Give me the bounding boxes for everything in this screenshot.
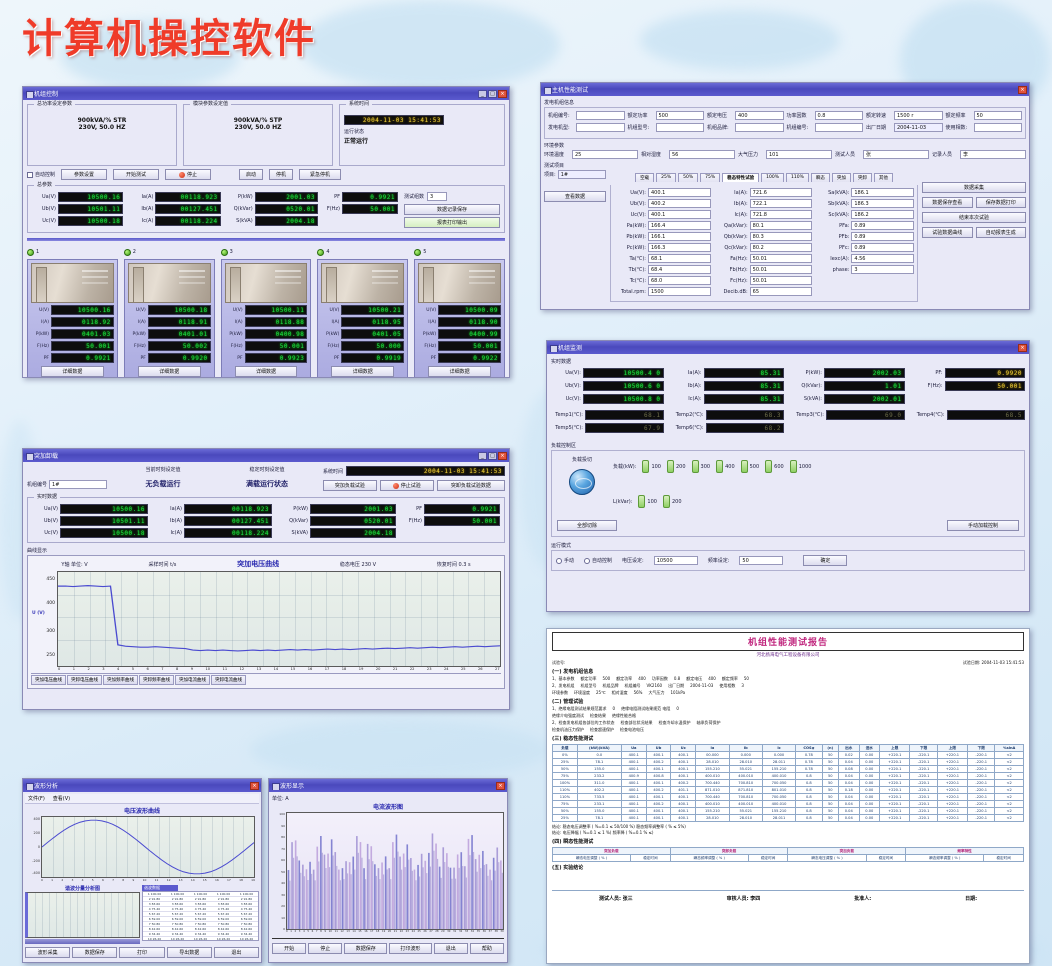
data-value[interactable]: 65 [750,287,813,296]
table-cell: 10 26.20 [166,937,189,941]
load-switch[interactable]: 200 [663,495,682,508]
data-value[interactable]: 80.1 [750,221,813,230]
mode-auto-radio[interactable]: 自动控制 [584,557,612,564]
monitor-label: Temp5(℃): [551,425,583,431]
tab-shed-voltage[interactable]: 突卸电压曲线 [67,675,102,685]
field-label: 机组编号: [787,124,813,131]
clear-all-load-button[interactable]: 全部切除 [557,520,617,531]
field-label: 功率因数 [787,112,813,119]
tab-shed-freq[interactable]: 突卸频率曲线 [139,675,174,685]
table-cell: 5 67.20 [189,912,212,916]
test-curve-button[interactable]: 试验数据曲线 [922,227,973,238]
acquire-data-button[interactable]: 数据采集 [922,182,1026,193]
signature-field: 批准人: [854,895,871,902]
data-label: Ub(V): [614,201,646,207]
load-switch[interactable]: 500 [741,460,760,473]
voltage-set-input[interactable]: 10500 [654,556,698,565]
field-input[interactable] [735,123,784,132]
mode-manual-radio[interactable]: 手动 [556,557,574,564]
table-cell: 871.810 [729,787,762,794]
print-report-button[interactable]: 报表打印输出 [404,217,500,228]
table-cell: <2 [995,801,1024,808]
table-cell: 400.1 [646,780,671,787]
time-display: 2004-11-03 15:41:53 [346,466,505,476]
load-switch[interactable]: 100 [638,495,657,508]
device-row-value: 0400.98 [245,329,308,339]
close-icon[interactable]: × [1018,86,1027,94]
data-value[interactable]: 400.2 [648,199,711,208]
table-cell: 400.1 [671,794,696,801]
field-input[interactable]: 500 [656,111,705,120]
data-value[interactable]: 0.89 [851,243,914,252]
readout-value: 0.9921 [424,504,500,514]
data-value[interactable]: 166.3 [648,243,711,252]
table-cell: 155.210 [696,766,729,773]
tab-3[interactable]: 75% [700,173,720,182]
exit-button[interactable]: 退出 [214,947,259,958]
capture-button[interactable]: 波形采集 [25,947,70,958]
y-tick: 0 [283,927,285,931]
table-cell: 稳定时间 [984,855,1024,862]
device-row-label: I(A) [225,320,243,325]
maximize-icon[interactable]: □ [488,452,497,460]
data-value[interactable]: 186.1 [851,188,914,197]
readout-value: 10501.11 [60,516,148,526]
close-icon[interactable]: × [498,90,507,98]
readout-value: 00127.451 [184,516,272,526]
device-row-label: P(kW) [31,332,49,337]
field-input[interactable]: 0.8 [815,111,864,120]
switch-label: 600 [774,464,784,470]
table-cell: <2 [995,815,1024,822]
print-button[interactable]: 打印 [119,947,164,958]
y-tick: 450 [46,577,55,582]
current-setpoint-label: 当前时刻设定值 [115,466,211,473]
startup-button[interactable]: 启动 [239,169,263,180]
device-detail-button[interactable]: 详细数据 [428,366,491,377]
field-select[interactable]: 2004-11-03 [894,123,943,132]
apply-load-button[interactable]: 突加负载试验 [323,480,377,491]
load-switch[interactable]: 400 [716,460,735,473]
readout-value: 00118.923 [184,504,272,514]
table-cell: 400.2 [646,801,671,808]
data-value[interactable]: 80.2 [750,243,813,252]
test-count-label: 测试组数 [404,193,424,200]
stop-test-button[interactable]: 停止试验 [380,480,434,491]
data-value[interactable]: 0.89 [851,232,914,241]
field-label: 额定转速 [866,112,892,119]
data-value[interactable]: 186.2 [851,210,914,219]
print-saved-button[interactable]: 保存数据打印 [976,197,1027,208]
tab-9[interactable]: 突卸 [853,173,872,182]
device-row-label: PF [321,356,339,361]
device-row-value: 0118.95 [341,317,404,327]
table-cell: -220.1 [910,787,937,794]
data-row: Fb(Hz):50.01 [716,265,813,274]
table-cell: -220.1 [968,766,995,773]
table-cell: -220.1 [910,759,937,766]
data-value[interactable]: 166.4 [648,221,711,230]
readout-row: Ub(V) 10501.11 [32,204,123,214]
field-input[interactable]: 101 [766,150,832,159]
table-cell: +220.1 [880,766,910,773]
maximize-icon[interactable]: □ [488,90,497,98]
menu-file[interactable]: 文件(F) [28,795,45,802]
x-tick: 35 [477,930,480,933]
x-tick: 36 [483,930,486,933]
switch-toggle-icon[interactable] [667,460,674,473]
save-data-button[interactable]: 数据记录保存 [404,204,500,215]
titlebar-title: 主机性能测试 [543,85,1018,94]
monitor-value: 2002.01 [824,394,905,404]
table-cell: 4 75.40 [143,907,166,911]
x-tick: 0 [286,930,288,933]
table-cell: 871.010 [696,787,729,794]
item-select[interactable]: 1# [558,170,606,179]
tab-6[interactable]: 110% [786,173,809,182]
data-value[interactable]: 400.1 [648,188,711,197]
shutdown-button[interactable]: 停机 [269,169,293,180]
group-legend: 总参数 [34,181,55,188]
report-cell: 额定功率 [581,676,597,682]
table-row: 25%78.1400.1400.1400.128.01028.01028.011… [553,815,1024,822]
data-value[interactable]: 68.1 [648,254,711,263]
data-value[interactable]: 186.3 [851,199,914,208]
data-label: Pc(kW): [614,245,646,251]
module-params-line1: 900kVA/% STP [188,117,328,124]
field-input[interactable] [656,123,705,132]
monitor-value: 67.9 [585,423,664,433]
table-cell: 25% [553,759,578,766]
readout-label: Q(kVar) [280,518,308,524]
table-cell: 400.010 [729,773,762,780]
table-cell: 4 75.40 [189,907,212,911]
tab-shed-current[interactable]: 突卸电流曲线 [211,675,246,685]
data-value[interactable]: 50.01 [750,265,813,274]
monitor-label: Temp4(℃): [913,412,945,418]
table-cell: +220.1 [880,752,910,759]
device-row-label: I(A) [418,320,436,325]
monitor-value: 68.1 [585,410,664,420]
tab-7[interactable]: 瞬态 [811,173,830,182]
field-label: 机组型号: [628,124,654,131]
field-label: 出厂日期 [866,124,892,131]
tab-apply-current[interactable]: 突加电流曲线 [175,675,210,685]
report-cell: 额定功率 [616,676,632,682]
readout-label: Uc(V) [32,530,58,536]
data-value[interactable]: 80.3 [750,232,813,241]
column-header: 下限 [968,745,995,752]
close-icon[interactable]: × [250,782,259,790]
status-led-icon [124,249,131,256]
switch-toggle-icon[interactable] [716,460,723,473]
tab-apply-voltage[interactable]: 突加电压曲线 [31,675,66,685]
data-value[interactable]: 1500 [648,287,711,296]
device-detail-button[interactable]: 详细数据 [41,366,104,377]
load-switch[interactable]: 1000 [790,460,812,473]
monitor-label: Ub(V): [551,383,581,389]
device-detail-button[interactable]: 详细数据 [235,366,298,377]
table-cell: 7 50.80 [235,922,258,926]
tab-10[interactable]: 其他 [874,173,893,182]
table-cell: +220.1 [880,780,910,787]
device-row-label: P(kW) [321,332,339,337]
freq-set-label: 频率设定: [708,557,730,564]
minimize-icon[interactable]: _ [478,90,487,98]
device-panel: 3 U(V)10500.11 I(A)0118.88 P(kW)0400.98 … [221,247,312,377]
field-input[interactable]: 张 [863,150,929,159]
tab-8[interactable]: 突加 [832,173,851,182]
table-cell: 0.04 [838,794,859,801]
table-cell: 700.050 [762,780,795,787]
stop-button[interactable]: 停止 [308,943,342,954]
manual-load-button[interactable]: 手动加载控制 [947,520,1019,531]
data-row: Tc(℃):68.0 [614,276,711,285]
temp-col: Temp1(℃):68.1Temp5(℃):67.9 [551,410,664,436]
column-header: (n) [822,745,838,752]
table-cell: 3 83.60 [235,902,258,906]
data-value[interactable]: 0.89 [851,221,914,230]
table-cell: -220.1 [910,794,937,801]
field-input[interactable] [576,123,625,132]
shed-load-data-button[interactable]: 突卸负载试验数据 [437,480,505,491]
table-cell: 400.1 [671,808,696,815]
table-cell: 50 [822,752,838,759]
table-cell: 400.010 [696,801,729,808]
monitor-label: Temp3(℃): [792,412,824,418]
tab-4[interactable]: 稳态特性试验 [722,173,759,182]
data-row: Fc(Hz):50.01 [716,276,813,285]
data-value[interactable]: 721.6 [750,188,813,197]
field-input[interactable]: 50 [974,111,1023,120]
harmonic-scrollbar[interactable] [25,939,140,944]
table-cell: 9 34.40 [166,932,189,936]
table-cell: 400.1 [621,752,646,759]
field-input[interactable]: 1500 r [894,111,943,120]
chart-title: 突加电压曲线 [237,559,279,569]
table-cell: 400.1 [621,787,646,794]
data-value[interactable]: 4.56 [851,254,914,263]
device-row-value: 50.001 [438,341,501,351]
field-input[interactable]: 56 [669,150,735,159]
data-row: Pa(kW):166.4 [614,221,711,230]
group-chart-readouts: 实时数据 Ua(V)10500.16 Ub(V)10501.11 Uc(V)10… [27,497,505,543]
field-input[interactable]: 25 [572,150,638,159]
monitor-row: Temp5(℃):67.9 [551,423,664,433]
titlebar-osc[interactable]: 波形显示 × [269,779,507,792]
load-switch[interactable]: 600 [765,460,784,473]
report-cell: 额定频率 [722,676,738,682]
monitor-row: P(kW):2002.03 [792,368,905,378]
data-label: Pb(kW): [614,234,646,240]
data-label: PFa: [817,223,849,229]
field-input[interactable] [576,111,625,120]
field-input[interactable] [815,123,864,132]
titlebar-title: 机组控制 [25,89,478,98]
table-cell: 155.210 [696,808,729,815]
data-value[interactable]: 68.0 [648,276,711,285]
view-saved-button[interactable]: 数据保存查看 [922,197,973,208]
load-switch[interactable]: 200 [667,460,686,473]
table-cell: <2 [995,766,1024,773]
start-test-button[interactable]: 开始测试 [113,169,159,180]
report-cell: 机组型号 [581,683,597,689]
table-cell: 400.9 [621,773,646,780]
titlebar-chart[interactable]: 突加卸载 _ □ × [23,449,509,462]
channel-input[interactable]: 1# [49,480,107,489]
minimize-icon[interactable]: _ [478,452,487,460]
readout-row: Ic(A) 00118.224 [129,216,220,226]
data-value[interactable]: 3 [851,265,914,274]
x-tick: 12 [167,878,171,882]
stop-button[interactable]: 停止 [165,169,211,180]
data-row: Decib.dB:65 [716,287,813,296]
device-list: 1 U(V)10500.16 I(A)0118.92 P(kW)0401.03 … [27,247,505,377]
monitor-label: Ib(A): [672,383,702,389]
monitor-row: Uc(V):10500.8 0 [551,394,664,404]
table-cell: 50 [822,766,838,773]
tab-1[interactable]: 25% [656,173,676,182]
param-setting-button[interactable]: 参数设置 [61,169,107,180]
help-button[interactable]: 帮助 [470,943,504,954]
tab-0[interactable]: 空载 [635,173,654,182]
titlebar-monitor[interactable]: 机组监测 × [547,341,1029,354]
start-button[interactable]: 开始 [272,943,306,954]
table-cell: 稳定时间 [631,855,671,862]
save-button[interactable]: 数据保存 [344,943,387,954]
field-input[interactable]: 400 [735,111,784,120]
monitor-label: PF: [913,370,943,376]
switch-toggle-icon[interactable] [642,460,649,473]
x-tick: 14 [352,930,355,933]
data-value[interactable]: 68.4 [648,265,711,274]
auto-report-button[interactable]: 自动报表生成 [976,227,1027,238]
device-row-label: F(Hz) [128,344,146,349]
table-cell: +220.1 [937,808,967,815]
readout-label: Ia(A) [129,194,153,200]
tab-apply-freq[interactable]: 突加频率曲线 [103,675,138,685]
data-value[interactable]: 166.1 [648,232,711,241]
data-value[interactable]: 50.01 [750,276,813,285]
table-row: 50%155.0400.1400.1400.1155.21055.021155.… [553,808,1024,815]
field-input[interactable]: 李 [960,150,1026,159]
print-button[interactable]: 打印波形 [389,943,432,954]
auto-control-checkbox[interactable]: 自动控制 [27,171,55,178]
table-cell: 0.8 [796,801,822,808]
table-cell: -220.1 [910,801,937,808]
switch-toggle-icon[interactable] [765,460,772,473]
field-label: 测试人员 [835,151,861,158]
emergency-stop-button[interactable]: 紧急停机 [299,169,341,180]
switch-toggle-icon[interactable] [741,460,748,473]
table-cell: -220.1 [968,752,995,759]
table-cell: 8 42.60 [166,927,189,931]
device-detail-button[interactable]: 详细数据 [331,366,394,377]
tab-2[interactable]: 50% [678,173,698,182]
readout-value: 2004.18 [255,216,318,226]
table-cell: +220.1 [937,787,967,794]
titlebar-main[interactable]: 机组控制 _ □ × [23,87,509,100]
titlebar-sine[interactable]: 波形分析 × [23,779,261,792]
switch-toggle-icon[interactable] [663,495,670,508]
view-data-button[interactable]: 查看数据 [544,191,606,202]
table-cell: 28.011 [762,815,795,822]
y-axis-label: U (V) [32,611,45,616]
data-label: phase: [817,267,849,273]
table-cell: 155.0 [577,766,621,773]
table-cell: +220.1 [880,815,910,822]
data-value[interactable]: 722.1 [750,199,813,208]
device-detail-button[interactable]: 详细数据 [138,366,201,377]
table-cell: 0.04 [838,780,859,787]
report-cell: 检查冷却水温保护 [659,720,691,726]
y-tick: 0 [38,845,40,849]
report-cell: 机组品牌 [603,683,619,689]
data-value[interactable]: 400.1 [648,210,711,219]
close-icon[interactable]: × [1018,344,1027,352]
switch-row-label: L(kVar): [613,499,632,505]
x-tick: 10 [143,878,147,882]
switch-toggle-icon[interactable] [692,460,699,473]
load-switch[interactable]: 100 [642,460,661,473]
device-number: 5 [423,249,426,255]
column-header: Ub [646,745,671,752]
export-button[interactable]: 导出数据 [167,947,212,958]
table-cell: -220.1 [968,787,995,794]
device-row-value: 0118.92 [51,317,114,327]
load-switch[interactable]: 300 [692,460,711,473]
readout-label: Ub(V) [32,206,56,212]
table-cell: 8 42.60 [143,927,166,931]
data-label: Fb(Hz): [716,267,748,273]
x-tick: 18 [239,878,243,882]
group-legend: 模块参数设定值 [190,100,231,107]
end-test-button[interactable]: 结束本次试验 [922,212,1026,223]
test-count-input[interactable]: 3 [427,192,447,201]
confirm-button[interactable]: 确定 [803,555,847,566]
data-row: Qa(kVar):80.1 [716,221,813,230]
save-button[interactable]: 数据保存 [72,947,117,958]
titlebar-form[interactable]: 主机性能测试 × [541,83,1029,96]
close-icon[interactable]: × [498,452,507,460]
current-setpoint-value: 无负载运行 [115,479,211,489]
table-cell: 50 [822,759,838,766]
field-input[interactable] [974,123,1023,132]
close-icon[interactable]: × [496,782,505,790]
exit-button[interactable]: 退出 [434,943,468,954]
data-value[interactable]: 721.8 [750,210,813,219]
report-cell: 额定电压 [686,676,702,682]
form-row: 机组编号: 额定功率500 额定电压400 功率因数0.8 额定转速1500 r… [548,111,1022,120]
data-value[interactable]: 50.01 [750,254,813,263]
menu-view[interactable]: 查看(V) [53,795,70,802]
table-cell: 400.1 [621,794,646,801]
table-cell: 50% [553,808,578,815]
device-row-value: 10500.16 [51,305,114,315]
temp-col: Temp4(℃):68.5 [913,410,1026,436]
table-cell: <2 [995,794,1024,801]
table-cell: 75% [553,773,578,780]
switch-toggle-icon[interactable] [638,495,645,508]
data-row: Ib(A):722.1 [716,199,813,208]
device-row-value: 50.001 [245,341,308,351]
freq-set-input[interactable]: 50 [739,556,783,565]
table-cell: 155.210 [762,766,795,773]
report-cell: 400 [638,676,646,682]
tab-5[interactable]: 100% [761,173,784,182]
y-tick: -200 [32,859,40,863]
switch-toggle-icon[interactable] [790,460,797,473]
